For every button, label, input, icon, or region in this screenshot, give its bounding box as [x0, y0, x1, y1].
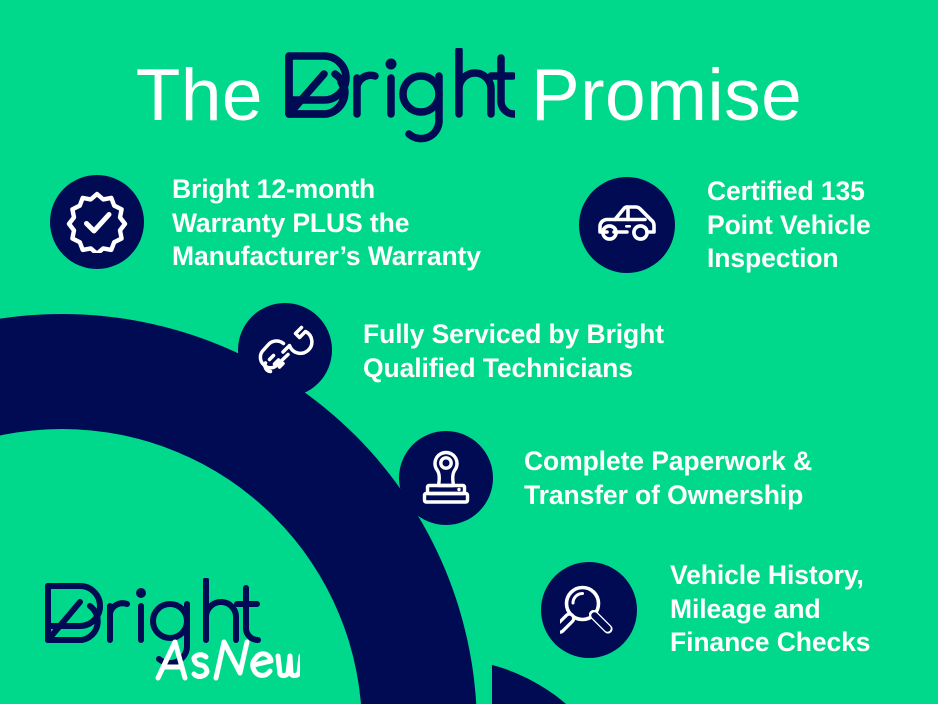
promise-poster: The — [0, 0, 938, 704]
logo-asnew — [158, 642, 300, 678]
promise-line: Certified 135 — [707, 175, 871, 209]
brightasnew-logo — [40, 578, 300, 683]
promise-line: Transfer of Ownership — [524, 479, 812, 513]
promise-line: Inspection — [707, 242, 871, 276]
stamp-icon — [399, 431, 493, 525]
promise-item-warranty: Bright 12-month Warranty PLUS the Manufa… — [50, 175, 481, 274]
promise-line: Bright 12-month — [172, 173, 481, 207]
promise-line: Vehicle History, — [670, 559, 870, 593]
page-title: The — [0, 40, 938, 150]
promise-label: Fully Serviced by Bright Qualified Techn… — [363, 318, 664, 385]
wrench-hand-icon — [238, 303, 332, 397]
bottom-wedge — [492, 668, 560, 704]
promise-item-inspection: Certified 135 Point Vehicle Inspection — [579, 177, 871, 276]
promise-item-history-check: Vehicle History, Mileage and Finance Che… — [541, 562, 870, 660]
promise-label: Certified 135 Point Vehicle Inspection — [707, 175, 871, 276]
car-icon — [579, 177, 675, 273]
promise-item-paperwork: Complete Paperwork & Transfer of Ownersh… — [399, 431, 812, 525]
promise-line: Finance Checks — [670, 626, 870, 660]
verified-badge-icon — [50, 175, 144, 269]
promise-label: Bright 12-month Warranty PLUS the Manufa… — [172, 173, 481, 274]
magnifying-glass-icon — [541, 562, 637, 658]
promise-line: Mileage and — [670, 593, 870, 627]
promise-line: Complete Paperwork & — [524, 445, 812, 479]
promise-item-servicing: Fully Serviced by Bright Qualified Techn… — [238, 303, 664, 397]
bright-wordmark-header — [279, 48, 515, 149]
title-suffix: Promise — [531, 59, 802, 132]
promise-line: Fully Serviced by Bright — [363, 318, 664, 352]
promise-line: Warranty PLUS the — [172, 207, 481, 241]
bottom-wedge-fill — [492, 665, 566, 704]
promise-label: Complete Paperwork & Transfer of Ownersh… — [524, 445, 812, 512]
promise-line: Qualified Technicians — [363, 352, 664, 386]
title-prefix: The — [136, 59, 263, 132]
promise-line: Point Vehicle — [707, 209, 871, 243]
promise-line: Manufacturer’s Warranty — [172, 240, 481, 274]
promise-label: Vehicle History, Mileage and Finance Che… — [670, 559, 870, 660]
